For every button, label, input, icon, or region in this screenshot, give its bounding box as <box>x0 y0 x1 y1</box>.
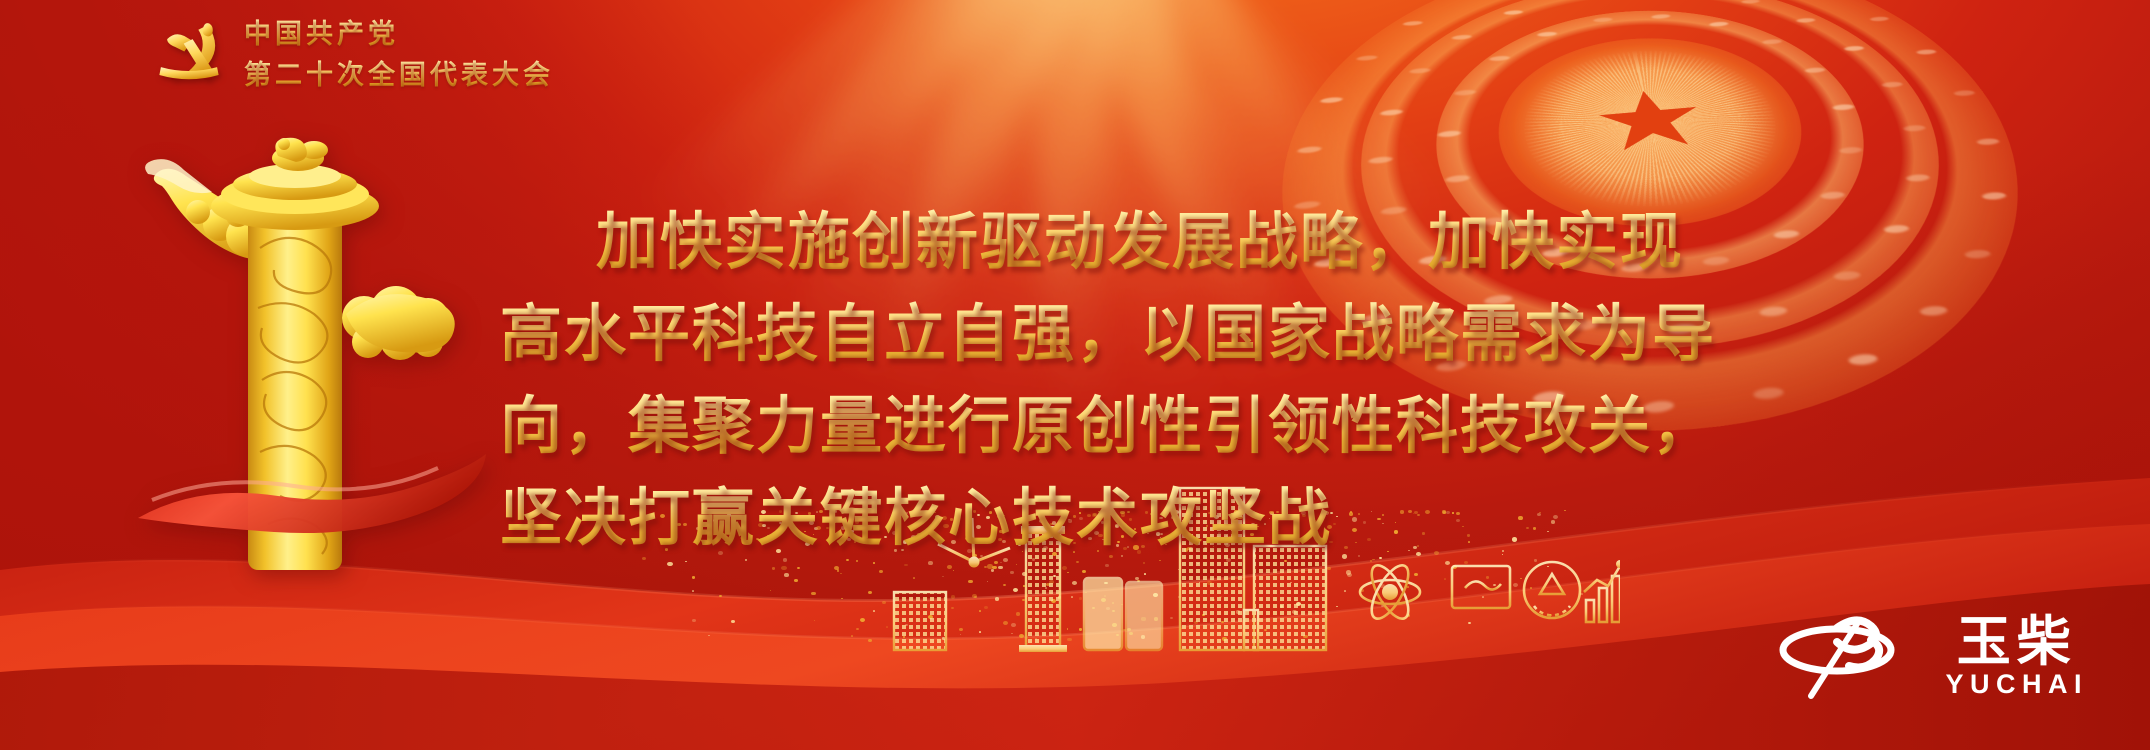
medallion-dot <box>1319 97 1342 104</box>
medallion-dot <box>1445 174 1469 183</box>
slogan-line-3: 向，集聚力量进行原创性引领性科技攻关， <box>500 380 1720 472</box>
gold-particle <box>797 567 800 569</box>
medallion-dot <box>1881 81 1904 88</box>
yuchai-name-cn: 玉柴 <box>1957 615 2077 669</box>
gold-particle <box>772 567 776 570</box>
droplet-recycle-icon <box>1524 562 1580 618</box>
gold-particle <box>840 573 842 574</box>
storage-tanks-icon <box>1084 578 1162 650</box>
grid-building-icon <box>894 592 946 650</box>
medallion-dot <box>1819 191 1846 200</box>
gold-particle <box>811 592 815 595</box>
gold-particle <box>692 619 696 622</box>
gold-particle <box>841 598 843 599</box>
medallion-dot <box>1976 138 2002 146</box>
gold-particle <box>781 566 786 570</box>
medallion-dot <box>1903 125 1928 133</box>
yuchai-logo: 玉柴 YUCHAI <box>1775 610 2088 702</box>
medallion-dot <box>1403 21 1423 26</box>
gold-particle <box>814 620 815 621</box>
medallion-dot <box>1761 39 1782 45</box>
growth-chart-icon <box>1584 560 1620 622</box>
medallion-dot <box>1438 130 1461 138</box>
slogan-line-4: 坚决打赢关键核心技术攻坚战 <box>500 472 1720 564</box>
medallion-dot <box>1804 67 1826 73</box>
medallion-dot <box>1905 174 1931 183</box>
medallion-dot <box>1651 14 1671 19</box>
medallion-dot <box>1882 224 1910 234</box>
hammer-and-sickle-emblem-icon <box>150 11 228 89</box>
pillar-capital <box>211 164 379 230</box>
gold-particle <box>860 618 865 622</box>
medallion-dot <box>1368 156 1393 164</box>
congress-logo-line-2: 第二十次全国代表大会 <box>244 53 554 92</box>
medallion-dot <box>1869 16 1890 21</box>
yuchai-ellipse-emblem-icon <box>1775 610 1927 702</box>
medallion-dot <box>1504 10 1523 15</box>
medallion-dot <box>1454 89 1476 96</box>
atom-icon <box>1360 560 1420 624</box>
medallion-dot <box>1593 17 1613 22</box>
medallion-dot <box>1741 0 1761 4</box>
slogan-line-2: 高水平科技自立自强，以国家战略需求为导 <box>500 288 1720 380</box>
medallion-dot <box>1490 55 1510 61</box>
medallion-dot <box>1981 192 2008 201</box>
pillar-cloud-right <box>342 286 455 360</box>
medallion-dot <box>1953 90 1977 97</box>
huabiao-pillar <box>128 128 488 598</box>
gold-particle <box>794 579 798 582</box>
medallion-dot <box>1452 35 1472 41</box>
medallion-dot <box>1963 249 1992 259</box>
congress-banner: 中国共产党 第二十次全国代表大会 加快实施创新驱动发展战略，加快实现 高水平科技… <box>0 0 2150 750</box>
gold-particle <box>856 628 859 630</box>
medallion-dot <box>1356 55 1377 61</box>
gold-particle <box>784 573 788 577</box>
medallion-dot <box>1838 147 1863 155</box>
congress-logo-line-1: 中国共产党 <box>244 12 554 51</box>
monitor-screen-icon <box>1452 566 1510 621</box>
gold-particle <box>731 620 735 624</box>
gold-particle <box>837 569 840 571</box>
gold-particle <box>873 610 875 612</box>
medallion-dot <box>1795 18 1815 23</box>
medallion-dot <box>1297 146 1322 154</box>
slogan-line-1: 加快实施创新驱动发展战略，加快实现 <box>500 196 1720 288</box>
gold-particle <box>770 590 772 591</box>
medallion-dot <box>1709 21 1729 26</box>
medallion-dot <box>1537 31 1557 37</box>
medallion-dot <box>1833 270 1862 281</box>
slogan-block: 加快实施创新驱动发展战略，加快实现 高水平科技自立自强，以国家战略需求为导 向，… <box>500 196 1720 564</box>
medallion-dot <box>1409 68 1430 74</box>
gold-particle <box>692 590 694 592</box>
gold-particle <box>708 635 710 636</box>
medallion-dot <box>1772 230 1800 240</box>
gold-particle <box>692 576 695 578</box>
medallion-dot <box>1380 109 1403 116</box>
yuchai-name-en: YUCHAI <box>1945 671 2088 698</box>
congress-logo: 中国共产党 第二十次全国代表大会 <box>150 8 554 92</box>
medallion-dot <box>1832 104 1856 111</box>
gold-particle <box>719 595 722 597</box>
gold-particle <box>851 635 853 637</box>
gold-particle <box>868 591 872 594</box>
medallion-dot <box>1916 49 1938 55</box>
medallion-dot <box>1843 45 1865 51</box>
